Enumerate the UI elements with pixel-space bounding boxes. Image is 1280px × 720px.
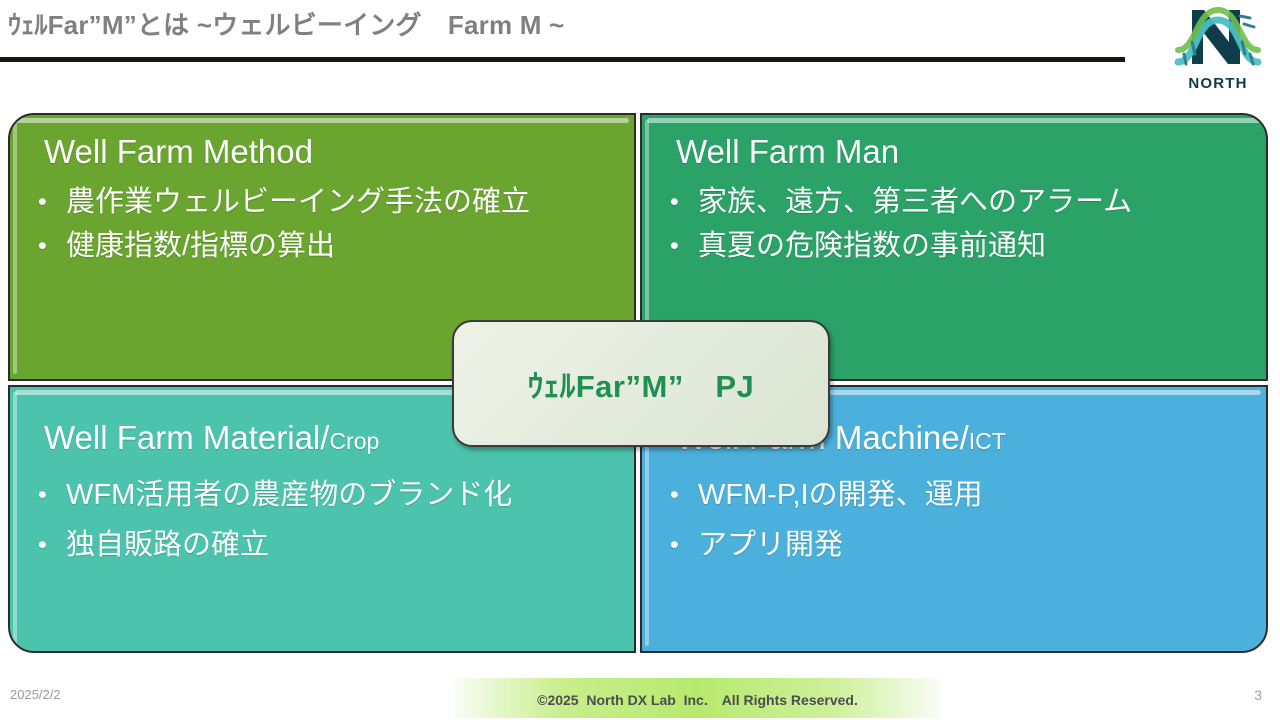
north-logo: NORTH — [1170, 2, 1266, 94]
list-item: 農作業ウェルビーイング手法の確立 — [32, 180, 624, 224]
quadrant-bullet-list: WFM-P,Iの開発、運用 アプリ開発 — [664, 470, 1256, 570]
north-dna-n-logo-icon — [1170, 2, 1266, 80]
footer-copyright: ©2025 North DX Lab Inc. All Rights Reser… — [455, 690, 940, 710]
footer-page-number: 3 — [1254, 687, 1262, 703]
list-item: 真夏の危険指数の事前通知 — [664, 224, 1256, 268]
quadrant-heading: Well Farm Man — [676, 131, 1256, 176]
page-title: ｳｪﾙFar”M”とは ~ウェルビーイング Farm M ~ — [8, 6, 564, 44]
title-underline-rule — [0, 57, 1125, 62]
quadrant-heading-sub: ICT — [969, 428, 1006, 454]
quadrant-heading-sub: Crop — [329, 428, 379, 454]
quadrant-bullet-list: WFM活用者の農産物のブランド化 独自販路の確立 — [32, 470, 624, 570]
list-item: WFM活用者の農産物のブランド化 — [32, 470, 624, 520]
footer-date: 2025/2/2 — [10, 687, 61, 702]
list-item: アプリ開発 — [664, 520, 1256, 570]
center-callout-box[interactable]: ｳｪﾙFar”M” PJ — [452, 320, 830, 447]
list-item: 独自販路の確立 — [32, 520, 624, 570]
quadrant-heading-main: Well Farm Man — [676, 133, 899, 170]
list-item: WFM-P,Iの開発、運用 — [664, 470, 1256, 520]
logo-wordmark: NORTH — [1170, 75, 1266, 92]
quadrant-heading-main: Well Farm Method — [44, 133, 313, 170]
list-item: 家族、遠方、第三者へのアラーム — [664, 180, 1256, 224]
list-item: 健康指数/指標の算出 — [32, 224, 624, 268]
quadrant-heading: Well Farm Method — [44, 131, 624, 176]
quadrant-bullet-list: 家族、遠方、第三者へのアラーム 真夏の危険指数の事前通知 — [664, 180, 1256, 268]
quadrant-heading-main: Well Farm Material/ — [44, 419, 329, 456]
quadrant-bullet-list: 農作業ウェルビーイング手法の確立 健康指数/指標の算出 — [32, 180, 624, 268]
center-callout-label: ｳｪﾙFar”M” PJ — [528, 361, 754, 406]
